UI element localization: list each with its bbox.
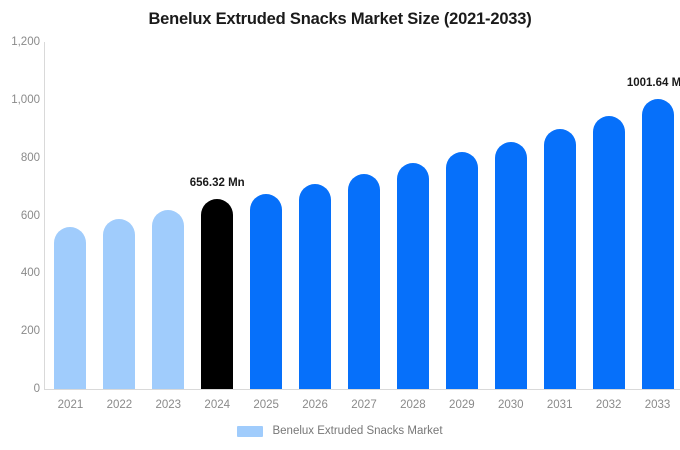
- x-axis-line: [44, 389, 680, 390]
- bar[interactable]: [544, 129, 576, 389]
- bar-value-label: 1001.64 Mn: [627, 77, 680, 89]
- bar[interactable]: [348, 174, 380, 389]
- x-axis-tick-label: 2025: [253, 399, 279, 411]
- plot-area: [44, 42, 680, 389]
- x-axis-tick-label: 2028: [400, 399, 426, 411]
- x-axis-tick-label: 2026: [302, 399, 328, 411]
- bar[interactable]: [250, 194, 282, 389]
- x-axis-tick-label: 2027: [351, 399, 377, 411]
- bar[interactable]: [152, 210, 184, 389]
- x-axis-tick-label: 2029: [449, 399, 475, 411]
- bar[interactable]: [642, 99, 674, 389]
- bar[interactable]: [103, 219, 135, 389]
- x-axis-tick-label: 2031: [547, 399, 573, 411]
- y-axis-tick-label: 600: [2, 210, 40, 222]
- y-axis-tick-label: 400: [2, 267, 40, 279]
- bar[interactable]: [299, 184, 331, 389]
- bar-value-label: 656.32 Mn: [190, 177, 245, 189]
- x-axis-tick-label: 2024: [204, 399, 230, 411]
- x-axis-tick-label: 2032: [596, 399, 622, 411]
- y-axis-tick-label: 1,200: [2, 36, 40, 48]
- x-axis-tick-label: 2022: [107, 399, 133, 411]
- legend-item-label: Benelux Extruded Snacks Market: [272, 425, 442, 437]
- bar[interactable]: [495, 142, 527, 389]
- x-axis-tick-label: 2033: [645, 399, 671, 411]
- bar[interactable]: [397, 163, 429, 389]
- y-axis-tick-label: 200: [2, 325, 40, 337]
- bar[interactable]: [593, 116, 625, 389]
- y-axis-tick-label: 800: [2, 152, 40, 164]
- y-axis-tick-labels: 02004006008001,0001,200: [0, 0, 40, 450]
- x-axis-tick-label: 2023: [156, 399, 182, 411]
- bar[interactable]: [54, 227, 86, 389]
- bar[interactable]: [446, 152, 478, 389]
- chart-title: Benelux Extruded Snacks Market Size (202…: [0, 10, 680, 29]
- legend-swatch-icon: [237, 426, 263, 437]
- bar[interactable]: [201, 199, 233, 389]
- chart-legend[interactable]: Benelux Extruded Snacks Market: [0, 425, 680, 437]
- x-axis-tick-label: 2021: [58, 399, 84, 411]
- x-axis-tick-label: 2030: [498, 399, 524, 411]
- y-axis-tick-label: 1,000: [2, 94, 40, 106]
- y-axis-tick-label: 0: [2, 383, 40, 395]
- bar-chart: Benelux Extruded Snacks Market Size (202…: [0, 0, 680, 450]
